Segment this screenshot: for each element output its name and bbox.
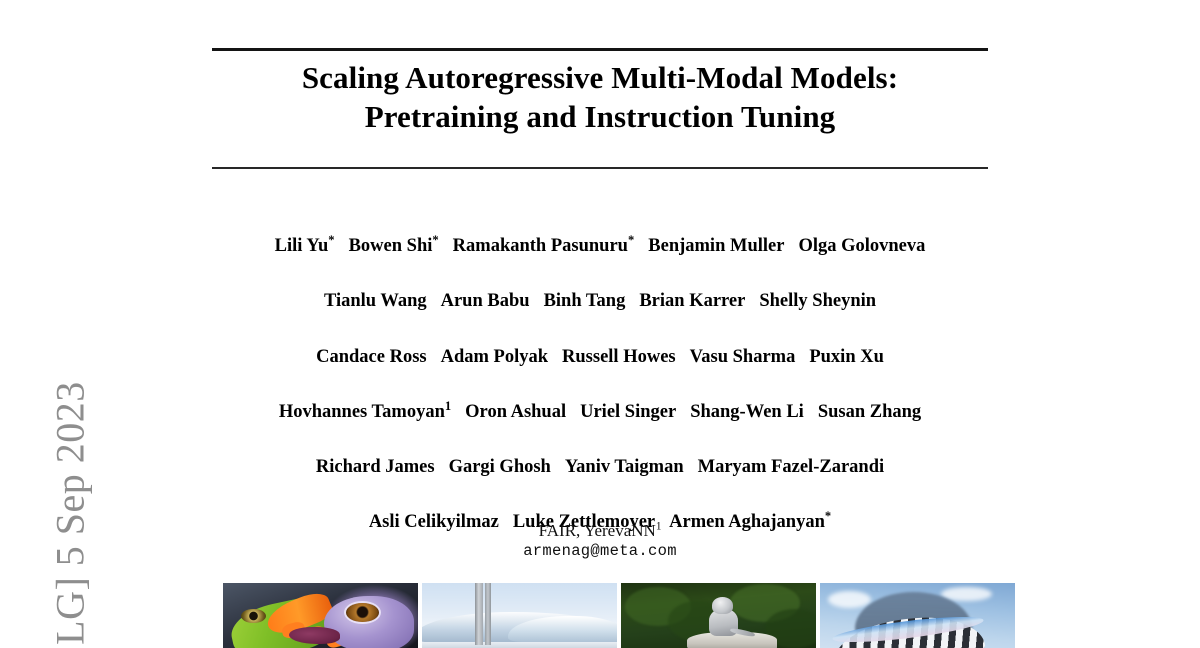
author-name: Russell Howes xyxy=(562,330,676,385)
author-name: Shang-Wen Li xyxy=(690,385,804,440)
author-name: Lili Yu* xyxy=(275,219,335,274)
author-footnote-marker: * xyxy=(328,233,334,247)
title-rule-top xyxy=(212,48,988,51)
affiliation: FAIR, YerevaNN1 xyxy=(180,520,1020,541)
author-name: Puxin Xu xyxy=(809,330,884,385)
author-name: Susan Zhang xyxy=(818,385,921,440)
author-row: Hovhannes Tamoyan1Oron AshualUriel Singe… xyxy=(180,385,1020,440)
author-name: Yaniv Taigman xyxy=(565,440,684,495)
author-name: Benjamin Muller xyxy=(648,219,784,274)
author-name: Bowen Shi* xyxy=(349,219,439,274)
author-name: Vasu Sharma xyxy=(690,330,796,385)
author-row: Candace RossAdam PolyakRussell HowesVasu… xyxy=(180,330,1020,385)
affiliation-footnote-marker: 1 xyxy=(656,520,662,532)
snow-ground xyxy=(422,642,617,648)
author-name: Arun Babu xyxy=(441,274,530,329)
author-name: Richard James xyxy=(316,440,435,495)
knight-helmet xyxy=(712,597,733,614)
author-name: Hovhannes Tamoyan1 xyxy=(279,385,451,440)
author-name: Ramakanth Pasunuru* xyxy=(453,219,635,274)
author-name: Binh Tang xyxy=(544,274,626,329)
author-name: Brian Karrer xyxy=(639,274,745,329)
author-row: Lili Yu*Bowen Shi*Ramakanth Pasunuru*Ben… xyxy=(180,219,1020,274)
author-row: Richard JamesGargi GhoshYaniv TaigmanMar… xyxy=(180,440,1020,495)
teaser-image-knight-on-horseback-in-forest xyxy=(621,583,816,648)
title-line-1: Scaling Autoregressive Multi-Modal Model… xyxy=(212,58,988,97)
author-list: Lili Yu*Bowen Shi*Ramakanth Pasunuru*Ben… xyxy=(180,219,1020,551)
sky-cloud xyxy=(828,591,871,608)
affiliation-label: FAIR, YerevaNN xyxy=(539,521,656,540)
teaser-figure-strip xyxy=(223,583,1015,648)
author-name: Maryam Fazel-Zarandi xyxy=(698,440,885,495)
author-name: Oron Ashual xyxy=(465,385,566,440)
author-name: Candace Ross xyxy=(316,330,427,385)
page-title: Scaling Autoregressive Multi-Modal Model… xyxy=(212,58,988,136)
author-name: Gargi Ghosh xyxy=(449,440,551,495)
paper-first-page: Scaling Autoregressive Multi-Modal Model… xyxy=(0,0,1200,648)
title-line-2: Pretraining and Instruction Tuning xyxy=(212,97,988,136)
title-rule-bottom xyxy=(212,167,988,169)
teaser-image-striped-chrome-object-in-sky xyxy=(820,583,1015,648)
metal-pole xyxy=(475,583,483,645)
author-footnote-marker: 1 xyxy=(445,399,451,413)
purple-creature-eye xyxy=(346,603,379,623)
author-name: Tianlu Wang xyxy=(324,274,427,329)
author-name: Shelly Sheynin xyxy=(759,274,876,329)
contact-email[interactable]: armenag@meta.com xyxy=(180,542,1020,560)
teaser-image-snowy-mountain-with-pole xyxy=(422,583,617,648)
author-footnote-marker: * xyxy=(628,233,634,247)
author-name: Uriel Singer xyxy=(580,385,676,440)
author-name: Olga Golovneva xyxy=(798,219,925,274)
author-row: Tianlu WangArun BabuBinh TangBrian Karre… xyxy=(180,274,1020,329)
author-footnote-marker: * xyxy=(432,233,438,247)
metal-pole-secondary xyxy=(485,583,491,645)
teaser-image-chameleon-and-purple-creature xyxy=(223,583,418,648)
author-name: Adam Polyak xyxy=(441,330,548,385)
